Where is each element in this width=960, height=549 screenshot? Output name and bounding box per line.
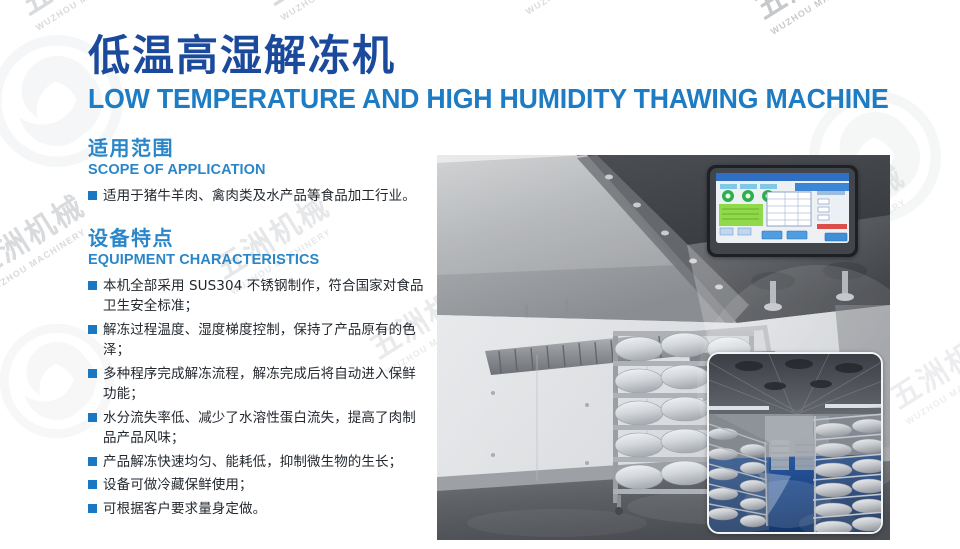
- list-item: 本机全部采用 SUS304 不锈钢制作，符合国家对食品卫生安全标准；: [88, 276, 428, 317]
- page-title-en: LOW TEMPERATURE AND HIGH HUMIDITY THAWIN…: [88, 83, 889, 115]
- list-item: 产品解冻快速均匀、能耗低，抑制微生物的生长；: [88, 452, 428, 473]
- hmi-control-panel-photo: [707, 165, 858, 257]
- watermark-text: 五洲机械 WUZHOU MACHINERY: [880, 312, 960, 426]
- section-heading: 设备特点 EQUIPMENT CHARACTERISTICS: [88, 226, 428, 269]
- bullet-square-icon: [88, 281, 97, 290]
- list-item-text: 适用于猪牛羊肉、禽肉类及水产品等食品加工行业。: [103, 186, 416, 207]
- list-item-text: 多种程序完成解冻流程，解冻完成后将自动进入保鲜功能；: [103, 364, 428, 405]
- section-heading-en: EQUIPMENT CHARACTERISTICS: [88, 251, 428, 269]
- list-item: 解冻过程温度、湿度梯度控制，保持了产品原有的色泽；: [88, 320, 428, 361]
- list-item: 可根据客户要求量身定做。: [88, 499, 428, 520]
- section-heading-cn: 适用范围: [88, 136, 428, 160]
- watermark-text: 五洲机械 WUZHOU MACHINERY: [500, 0, 638, 17]
- section-heading-cn: 设备特点: [88, 226, 428, 250]
- page-header: 低温高湿解冻机 LOW TEMPERATURE AND HIGH HUMIDIT…: [88, 32, 913, 115]
- bullet-square-icon: [88, 191, 97, 200]
- list-item-text: 本机全部采用 SUS304 不锈钢制作，符合国家对食品卫生安全标准；: [103, 276, 428, 317]
- bullet-list: 适用于猪牛羊肉、禽肉类及水产品等食品加工行业。: [88, 186, 428, 207]
- spec-content: 适用范围 SCOPE OF APPLICATION 适用于猪牛羊肉、禽肉类及水产…: [88, 136, 428, 522]
- section-divider: [88, 210, 428, 226]
- list-item-text: 设备可做冷藏保鲜使用；: [103, 475, 253, 496]
- list-item: 设备可做冷藏保鲜使用；: [88, 475, 428, 496]
- bullet-square-icon: [88, 325, 97, 334]
- bullet-list: 本机全部采用 SUS304 不锈钢制作，符合国家对食品卫生安全标准； 解冻过程温…: [88, 276, 428, 520]
- bullet-square-icon: [88, 369, 97, 378]
- watermark-text: 五洲机械 WUZHOU MACHINERY: [0, 182, 98, 296]
- list-item-text: 产品解冻快速均匀、能耗低，抑制微生物的生长；: [103, 452, 402, 473]
- list-item: 适用于猪牛羊肉、禽肉类及水产品等食品加工行业。: [88, 186, 428, 207]
- list-item-text: 水分流失率低、减少了水溶性蛋白流失，提高了肉制品产品风味；: [103, 408, 428, 449]
- bullet-square-icon: [88, 413, 97, 422]
- watermark-text: 五洲机械 WUZHOU MACHINERY: [10, 0, 148, 33]
- section-heading-en: SCOPE OF APPLICATION: [88, 161, 428, 179]
- list-item: 水分流失率低、减少了水溶性蛋白流失，提高了肉制品产品风味；: [88, 408, 428, 449]
- section-heading: 适用范围 SCOPE OF APPLICATION: [88, 136, 428, 179]
- list-item: 多种程序完成解冻流程，解冻完成后将自动进入保鲜功能；: [88, 364, 428, 405]
- list-item-text: 解冻过程温度、湿度梯度控制，保持了产品原有的色泽；: [103, 320, 428, 361]
- section-scope: 适用范围 SCOPE OF APPLICATION 适用于猪牛羊肉、禽肉类及水产…: [88, 136, 428, 207]
- list-item-text: 可根据客户要求量身定做。: [103, 499, 266, 520]
- bullet-square-icon: [88, 480, 97, 489]
- section-characteristics: 设备特点 EQUIPMENT CHARACTERISTICS 本机全部采用 SU…: [88, 226, 428, 520]
- bullet-square-icon: [88, 504, 97, 513]
- cold-storage-room-photo: [707, 352, 883, 534]
- bullet-square-icon: [88, 457, 97, 466]
- watermark-text: 五洲机械 WUZHOU MACHINERY: [255, 0, 393, 23]
- page-title-cn: 低温高湿解冻机: [88, 32, 913, 79]
